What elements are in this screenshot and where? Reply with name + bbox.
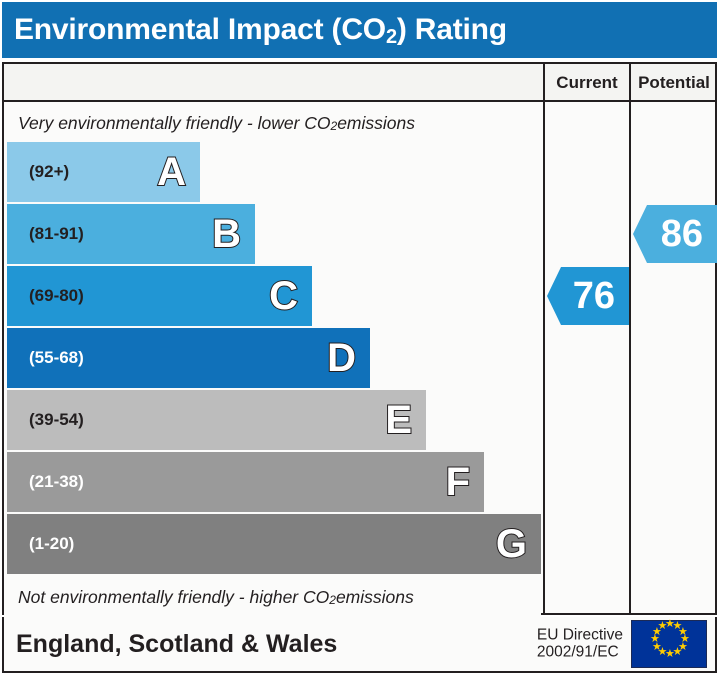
- band-range-label-f: (21-38): [29, 472, 84, 492]
- caption-top-subscript: 2: [331, 119, 338, 133]
- rating-bands: (92+)A(81-91)B(69-80)C(55-68)D(39-54)E(2…: [4, 142, 541, 577]
- footer-directive-line2: 2002/91/EC: [537, 644, 623, 661]
- caption-bottom-prefix: Not environmentally friendly - higher CO: [18, 587, 329, 608]
- rating-value-current: 76: [547, 267, 629, 325]
- page-title: Environmental Impact (CO2) Rating: [14, 15, 507, 45]
- caption-bottom-subscript: 2: [329, 593, 336, 607]
- chart-title-bar: Environmental Impact (CO2) Rating: [2, 2, 717, 58]
- band-range-label-a: (92+): [29, 162, 69, 182]
- page-title-suffix: ) Rating: [397, 13, 507, 46]
- caption-top-prefix: Very environmentally friendly - lower CO: [18, 113, 331, 134]
- footer-country: England, Scotland & Wales: [16, 630, 337, 659]
- eu-flag-icon: [631, 620, 707, 668]
- rating-table: Current Potential Very environmentally f…: [2, 62, 717, 615]
- column-header-potential: Potential: [631, 64, 717, 102]
- band-range-label-b: (81-91): [29, 224, 84, 244]
- band-letter-e: E: [385, 400, 412, 440]
- band-letter-c: C: [269, 276, 298, 316]
- caption-bottom: Not environmentally friendly - higher CO…: [4, 577, 541, 617]
- band-letter-a: A: [157, 152, 186, 192]
- band-letter-b: B: [212, 214, 241, 254]
- rating-band-g: (1-20)G: [7, 514, 541, 574]
- rating-band-e: (39-54)E: [7, 390, 426, 450]
- band-letter-g: G: [496, 524, 527, 564]
- band-range-label-g: (1-20): [29, 534, 74, 554]
- rating-band-c: (69-80)C: [7, 266, 312, 326]
- band-range-label-e: (39-54): [29, 410, 84, 430]
- band-range-label-c: (69-80): [29, 286, 84, 306]
- rating-band-a: (92+)A: [7, 142, 200, 202]
- caption-top: Very environmentally friendly - lower CO…: [4, 104, 541, 142]
- caption-bottom-suffix: emissions: [336, 587, 414, 608]
- column-divider-potential: [629, 64, 631, 613]
- rating-band-b: (81-91)B: [7, 204, 255, 264]
- rating-band-f: (21-38)F: [7, 452, 484, 512]
- footer-directive-line1: EU Directive: [537, 627, 623, 644]
- page-title-subscript: 2: [386, 26, 397, 48]
- chart-footer: England, Scotland & Wales EU Directive 2…: [2, 617, 717, 673]
- caption-top-suffix: emissions: [337, 113, 415, 134]
- rating-value-potential: 86: [633, 205, 717, 263]
- column-divider-current: [543, 64, 545, 613]
- column-header-current: Current: [545, 64, 629, 102]
- band-letter-f: F: [446, 462, 470, 502]
- band-letter-d: D: [327, 338, 356, 378]
- band-range-label-d: (55-68): [29, 348, 84, 368]
- epc-environmental-impact-certificate: Environmental Impact (CO2) Rating Curren…: [0, 0, 719, 675]
- rating-band-d: (55-68)D: [7, 328, 370, 388]
- footer-directive: EU Directive 2002/91/EC: [537, 627, 623, 662]
- page-title-prefix: Environmental Impact (CO: [14, 13, 386, 46]
